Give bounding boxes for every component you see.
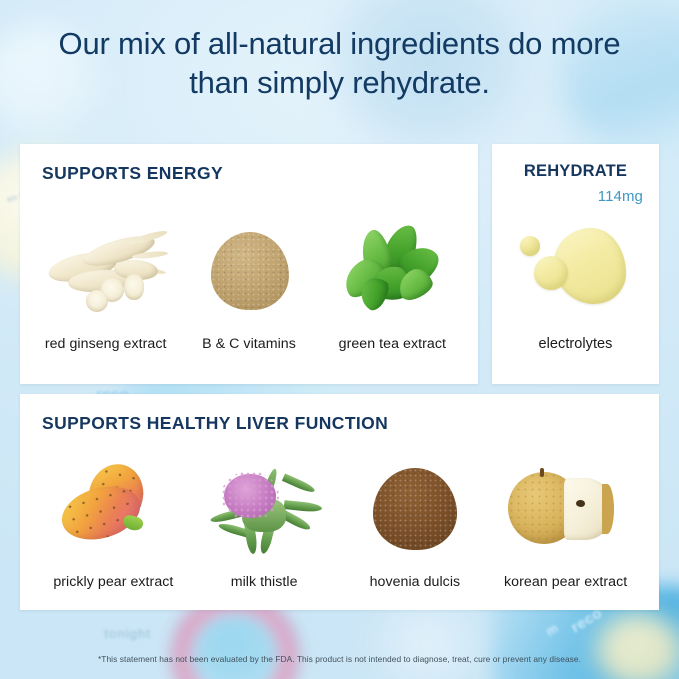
card-rehydrate: REHYDRATE 114mg electrolytes xyxy=(492,144,659,384)
promo-graphic: on the lorange reco tonight m reco Our m… xyxy=(0,0,679,679)
ingredient-electrolytes: electrolytes xyxy=(500,222,651,352)
ingredient-label: red ginseng extract xyxy=(45,336,167,352)
card-title-supports-energy: SUPPORTS ENERGY xyxy=(42,163,223,184)
background-text-tonight: tonight xyxy=(104,626,151,641)
korean-pear-icon xyxy=(502,458,630,562)
milk-thistle-flower-icon xyxy=(200,458,328,562)
prickly-pear-fruit-icon xyxy=(49,458,177,562)
card-supports-energy: SUPPORTS ENERGY red ginseng extract xyxy=(20,144,478,384)
rehydrate-amount: 114mg xyxy=(598,188,643,205)
background-blur-yellow-lid xyxy=(596,612,679,679)
ingredient-list-rehydrate: electrolytes xyxy=(492,222,659,352)
ingredient-hovenia-dulcis: hovenia dulcis xyxy=(340,458,491,590)
ingredient-list-energy: red ginseng extract B & C vitamins xyxy=(20,218,478,352)
card-supports-healthy-liver-function: SUPPORTS HEALTHY LIVER FUNCTION prickly … xyxy=(20,394,659,610)
ingredient-label: green tea extract xyxy=(339,336,446,352)
green-tea-leaves-icon xyxy=(328,218,456,322)
ingredient-milk-thistle: milk thistle xyxy=(189,458,340,590)
brown-powder-icon xyxy=(351,458,479,562)
ginseng-root-icon xyxy=(42,218,170,322)
ingredient-red-ginseng-extract: red ginseng extract xyxy=(34,218,177,352)
ingredient-label: prickly pear extract xyxy=(53,574,173,590)
ingredient-korean-pear-extract: korean pear extract xyxy=(490,458,641,590)
page-title: Our mix of all-natural ingredients do mo… xyxy=(0,24,679,103)
card-title-liver-function: SUPPORTS HEALTHY LIVER FUNCTION xyxy=(42,413,388,434)
ingredient-green-tea-extract: green tea extract xyxy=(321,218,464,352)
ingredient-b-and-c-vitamins: B & C vitamins xyxy=(177,218,320,352)
tan-powder-icon xyxy=(185,218,313,322)
ingredient-label: korean pear extract xyxy=(504,574,627,590)
ingredient-label: hovenia dulcis xyxy=(370,574,461,590)
ingredient-label: B & C vitamins xyxy=(202,336,296,352)
ingredient-prickly-pear-extract: prickly pear extract xyxy=(38,458,189,590)
yellow-liquid-droplets-icon xyxy=(516,222,636,318)
card-title-rehydrate: REHYDRATE xyxy=(492,162,659,181)
ingredient-label: electrolytes xyxy=(539,336,613,352)
ingredient-label: milk thistle xyxy=(231,574,298,590)
fda-disclaimer: *This statement has not been evaluated b… xyxy=(0,654,679,664)
ingredient-list-liver: prickly pear extract milk xyxy=(20,458,659,590)
